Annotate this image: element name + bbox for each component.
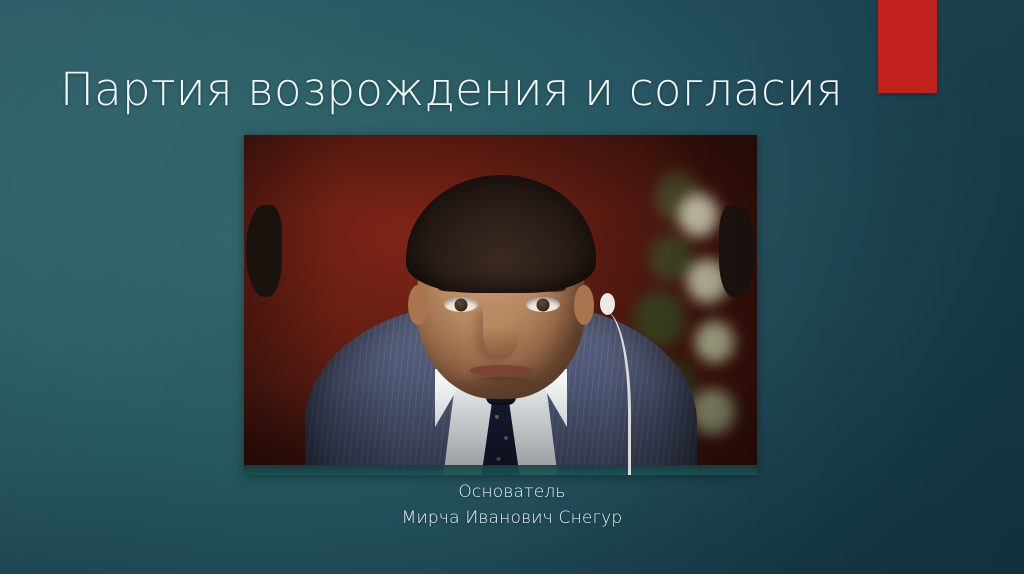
table-edge (244, 465, 757, 475)
presentation-slide: Партия возрождения и согласия (0, 0, 1024, 574)
caption-name: Мирча Иванович Снегур (0, 506, 1024, 532)
caption-role: Основатель (0, 480, 1024, 506)
page-title: Партия возрождения и согласия (60, 66, 860, 113)
accent-bar-red (878, 0, 937, 93)
photo-vignette (244, 135, 757, 475)
photo-caption: Основатель Мирча Иванович Снегур (0, 480, 1024, 531)
portrait-photo (244, 135, 757, 475)
